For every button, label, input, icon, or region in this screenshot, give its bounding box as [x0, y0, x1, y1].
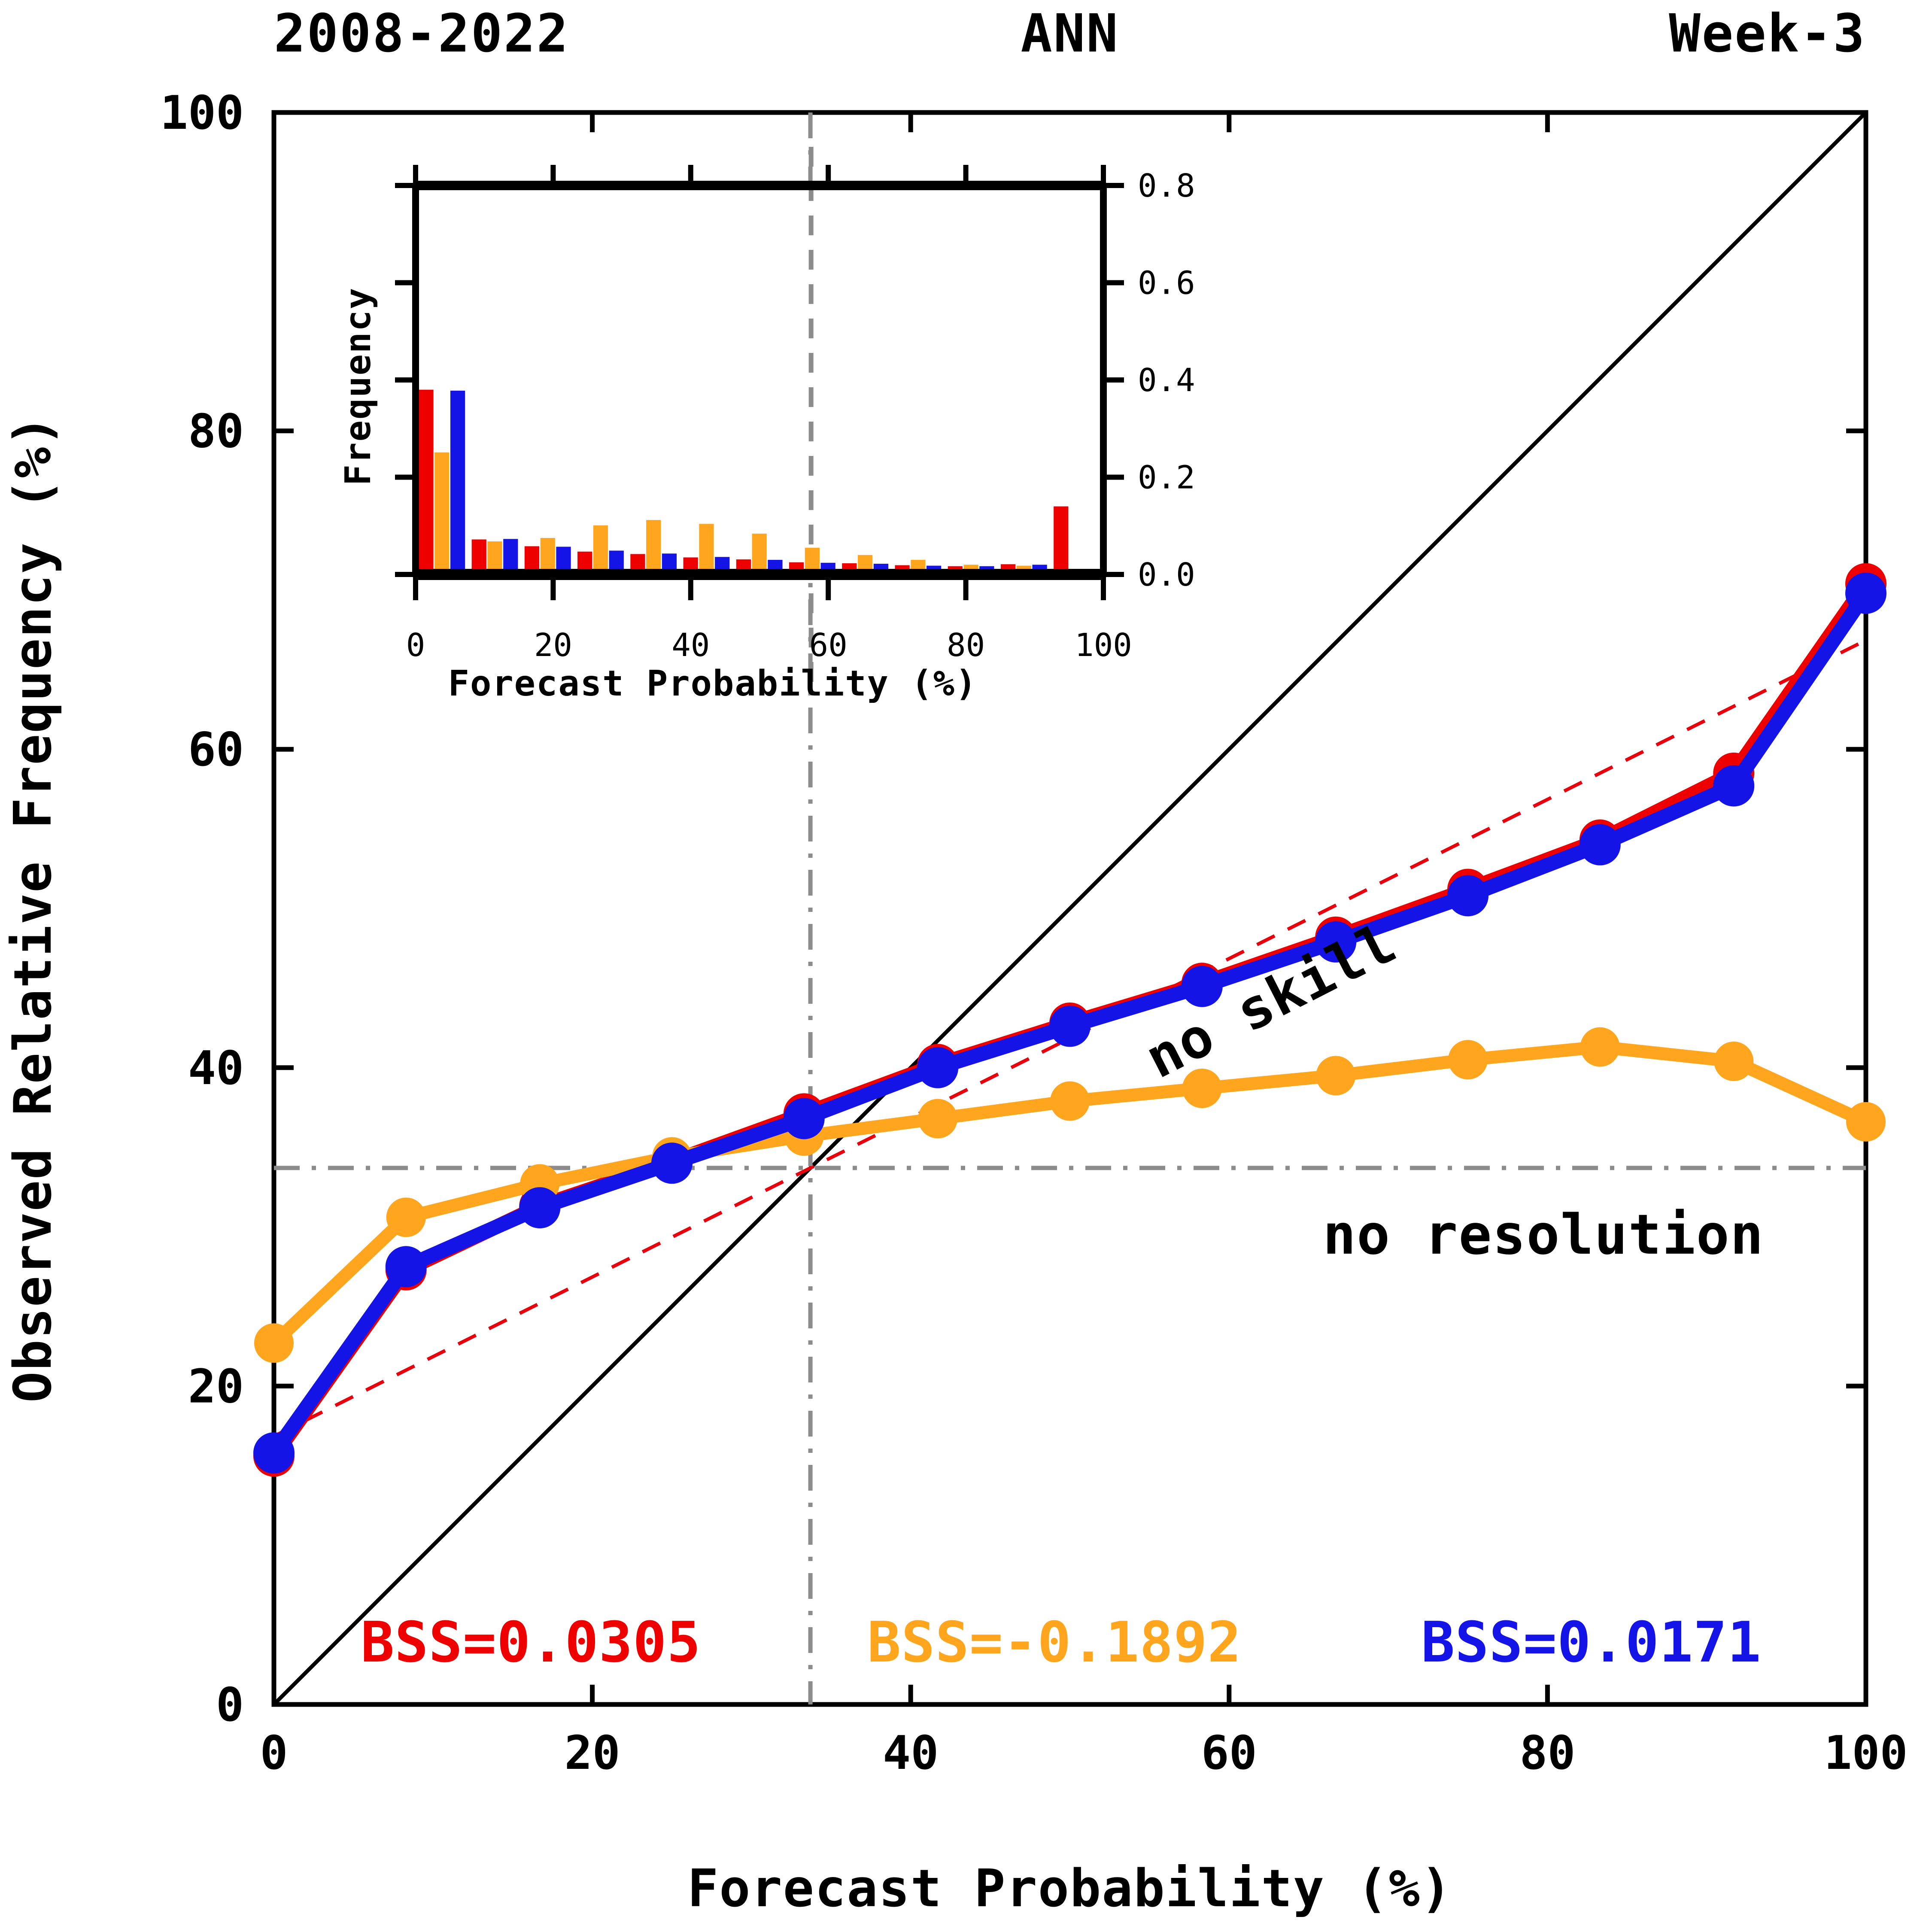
data-point-blue: [386, 1246, 427, 1287]
inset-bar-orange: [752, 534, 767, 574]
data-point-blue: [1713, 765, 1754, 806]
inset-y-tick-label: 0.4: [1138, 362, 1195, 399]
data-point-blue: [253, 1432, 295, 1473]
data-point-blue: [1845, 573, 1886, 614]
inset-y-tick-label: 0.0: [1138, 556, 1195, 593]
x-tick-label: 40: [883, 1726, 939, 1780]
inset-x-tick-label: 60: [809, 627, 848, 664]
data-point-blue: [784, 1098, 825, 1139]
data-point-orange: [1316, 1056, 1355, 1095]
y-tick-label: 60: [188, 723, 244, 777]
y-tick-label: 80: [188, 405, 244, 459]
title-right: Week-3: [1669, 3, 1866, 64]
inset-x-tick-label: 40: [671, 627, 710, 664]
inset-bar-red: [419, 390, 433, 574]
inset-x-axis-title: Forecast Probability (%): [448, 663, 978, 704]
inset-bar-orange: [646, 520, 661, 574]
no-resolution-annotation: no resolution: [1323, 1203, 1764, 1267]
inset-bar-orange: [593, 526, 608, 574]
inset-bar-red: [1054, 506, 1068, 574]
data-point-blue: [1580, 824, 1621, 866]
data-point-orange: [1714, 1042, 1753, 1081]
y-axis-title: Observed Relative Frequency (%): [3, 414, 63, 1403]
inset-y-axis-title: Frequency: [338, 287, 379, 486]
data-point-blue: [1447, 875, 1488, 916]
x-tick-label: 100: [1824, 1726, 1908, 1780]
x-tick-label: 20: [565, 1726, 620, 1780]
data-point-orange: [918, 1099, 957, 1138]
inset-y-tick-label: 0.6: [1138, 265, 1195, 302]
bss-blue-label: BSS=0.0171: [1421, 1610, 1762, 1675]
bss-red-label: BSS=0.0305: [361, 1610, 701, 1675]
title-center: ANN: [1021, 3, 1119, 64]
inset-x-tick-label: 0: [406, 627, 425, 664]
title-left: 2008-2022: [274, 3, 569, 64]
data-point-blue: [651, 1142, 693, 1184]
data-point-blue: [519, 1187, 560, 1228]
x-tick-label: 80: [1519, 1726, 1575, 1780]
data-point-orange: [1580, 1027, 1620, 1067]
bss-orange-label: BSS=-0.1892: [867, 1610, 1242, 1675]
x-tick-label: 60: [1201, 1726, 1257, 1780]
y-tick-label: 20: [188, 1360, 244, 1413]
inset-y-tick-label: 0.2: [1138, 459, 1195, 496]
x-axis-title: Forecast Probability (%): [687, 1859, 1452, 1919]
data-point-orange: [1448, 1040, 1488, 1079]
inset-x-tick-label: 100: [1075, 627, 1132, 664]
data-point-orange: [1050, 1081, 1090, 1121]
x-tick-label: 0: [260, 1726, 288, 1780]
data-point-orange: [254, 1323, 294, 1363]
inset-x-tick-label: 80: [947, 627, 985, 664]
inset-x-tick-label: 20: [534, 627, 572, 664]
data-point-blue: [917, 1047, 958, 1088]
inset-bar-blue: [450, 391, 465, 574]
data-point-orange: [1846, 1102, 1886, 1142]
data-point-blue: [1049, 1005, 1091, 1047]
inset-frame: [416, 185, 1103, 574]
inset-bar-orange: [699, 524, 714, 574]
y-tick-label: 40: [188, 1042, 244, 1095]
figure-canvas: 2008-2022 ANN Week-3 0204060801000204060…: [0, 0, 1932, 1932]
y-tick-label: 100: [160, 86, 244, 140]
data-point-orange: [386, 1197, 426, 1237]
inset-y-tick-label: 0.8: [1138, 167, 1195, 204]
inset-bar-orange: [434, 453, 449, 574]
reliability-diagram-figure: 2008-2022 ANN Week-3 0204060801000204060…: [0, 0, 1932, 1932]
y-tick-label: 0: [216, 1678, 244, 1732]
